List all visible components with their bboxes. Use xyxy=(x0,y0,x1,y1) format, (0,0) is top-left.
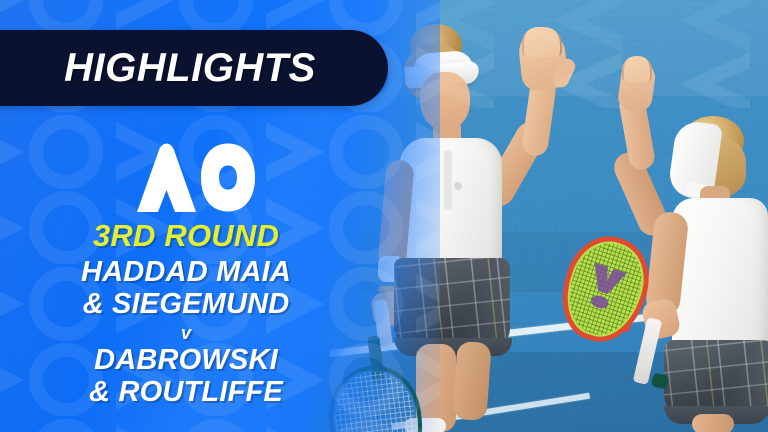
thumbnail-stage: HIGHLIGHTS 3RD ROUND HADDAD MAIA & SIEGE… xyxy=(0,0,768,432)
highlights-banner: HIGHLIGHTS xyxy=(0,30,388,106)
team-one-line-one: HADDAD MAIA xyxy=(0,258,372,287)
ao-logo xyxy=(136,142,256,212)
highlights-label: HIGHLIGHTS xyxy=(36,46,316,91)
match-info: 3RD ROUND HADDAD MAIA & SIEGEMUND v DABR… xyxy=(0,220,372,407)
player-left-top-placket xyxy=(444,150,452,210)
player-left-leg-far xyxy=(452,341,491,421)
player-right-fingers xyxy=(622,56,652,82)
team-two-line-two: & ROUTLIFFE xyxy=(0,378,372,407)
versus-label: v xyxy=(0,324,372,342)
team-two-line-one: DABROWSKI xyxy=(0,346,372,375)
round-label: 3RD ROUND xyxy=(0,220,372,251)
team-one-line-two: & SIEGEMUND xyxy=(0,290,372,319)
player-left-fingers xyxy=(522,27,562,57)
player-right-leg xyxy=(692,414,734,432)
player-left-top-button xyxy=(454,182,462,190)
